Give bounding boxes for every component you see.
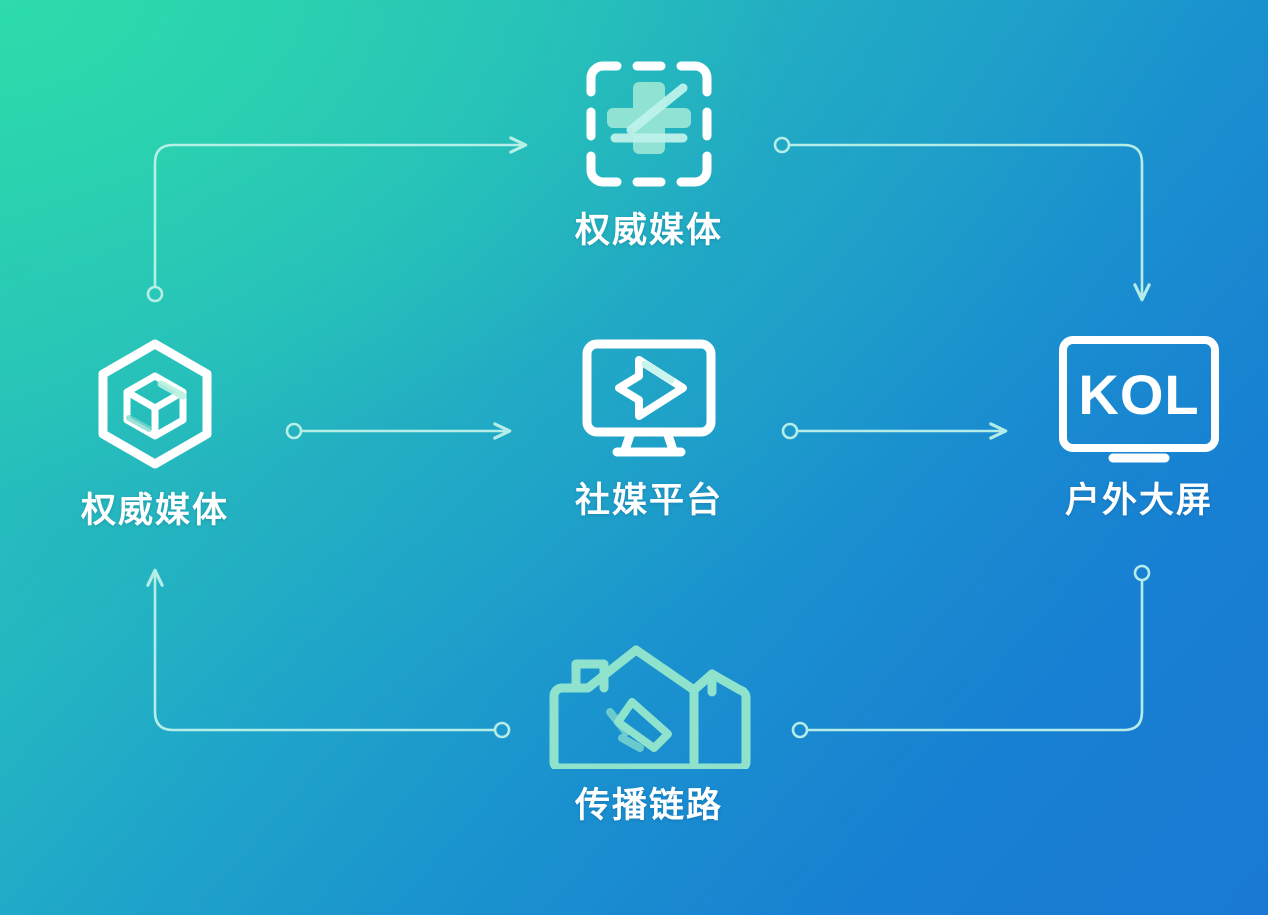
node-top-label: 权威媒体 (575, 213, 723, 248)
connector-left-to-top (148, 145, 525, 301)
node-bottom-label: 传播链路 (575, 788, 723, 823)
node-bottom[interactable]: 传播链路 (508, 644, 790, 823)
city-buildings-icon (544, 644, 754, 774)
node-center[interactable]: 社媒平台 (508, 334, 790, 518)
node-top[interactable]: 权威媒体 (508, 54, 790, 248)
billboard-kol-icon: KOL (1057, 334, 1221, 469)
connector-left-to-center (287, 424, 509, 438)
connector-top-to-right (775, 138, 1142, 299)
monitor-play-icon (579, 334, 719, 469)
hexagon-cube-icon (85, 334, 225, 479)
node-center-label: 社媒平台 (575, 483, 723, 518)
node-left-label: 权威媒体 (81, 493, 229, 528)
kol-icon-text: KOL (1078, 363, 1199, 426)
node-right[interactable]: KOL 户外大屏 (998, 334, 1268, 518)
node-right-label: 户外大屏 (1065, 483, 1213, 518)
node-left[interactable]: 权威媒体 (14, 334, 296, 528)
connector-center-to-right (783, 424, 1005, 438)
connector-right-to-bottom (793, 566, 1149, 737)
scan-frame-cross-icon (579, 54, 719, 199)
connector-bottom-to-left (155, 571, 509, 737)
diagram-canvas: 权威媒体 权威媒体 (0, 0, 1268, 915)
